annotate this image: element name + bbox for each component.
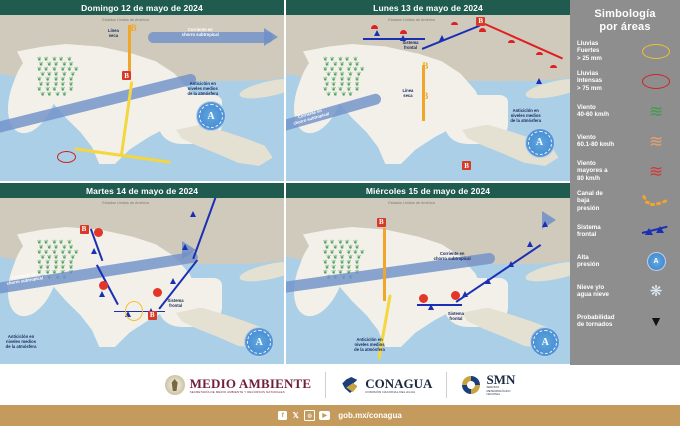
front-label: Sistema frontal xyxy=(402,40,418,50)
social-bar: f 𝕏 ◎ ▶ gob.mx/conagua xyxy=(0,405,680,426)
landmass-florida xyxy=(239,218,270,261)
panel-title-lunes: Lunes 13 de mayo de 2024 xyxy=(286,0,570,15)
panel-title-miercoles: Miércoles 15 de mayo de 2024 xyxy=(286,183,570,198)
forecast-panel-lunes[interactable]: Lunes 13 de mayo de 2024 ❦ ❦ ❦ ❦ ❦ ❦ ❦ ❦… xyxy=(286,0,570,181)
anticyclone-a-symbol: A xyxy=(207,111,214,122)
legend-label: Canal de baja presión xyxy=(577,190,633,212)
mexican-eagle-seal-icon xyxy=(165,375,185,395)
logo-text-block: MEDIO AMBIENTE SECRETARÍA DE MEDIO AMBIE… xyxy=(190,377,312,394)
panel-title-domingo: Domingo 12 de mayo de 2024 xyxy=(0,0,284,15)
legend-item-viento-60-80[interactable]: Viento 60.1-80 km/h ≋ xyxy=(570,126,680,156)
map-lunes: ❦ ❦ ❦ ❦ ❦ ❦ ❦ ❦ ❦ ❦ ❦ ❦ ❦ ❦ ❦ ❦ ❦ ❦ ❦ ❦ … xyxy=(286,15,570,181)
cold-front-triangle-icon xyxy=(542,221,548,227)
legend-icon-wrap: ≋ xyxy=(639,158,673,184)
low-pressure-marker: B xyxy=(476,17,485,26)
legend-title-line2: por áreas xyxy=(599,21,650,33)
smn-spiral-icon xyxy=(461,375,481,395)
legend-icon-wrap: ≋ xyxy=(639,128,673,154)
dry-line-label: Línea seca xyxy=(108,28,119,38)
legend-icon-wrap: ❋ xyxy=(639,278,673,304)
legend-item-lluvias-fuertes[interactable]: Lluvias Fuertes > 25 mm xyxy=(570,36,680,66)
intense-rain-dot xyxy=(94,228,103,237)
logo-conagua-name: CONAGUA xyxy=(365,377,432,390)
legend-icon-wrap xyxy=(639,188,673,214)
legend-icon-wrap xyxy=(639,218,673,244)
logo-text-block: CONAGUA COMISIÓN NACIONAL DEL AGUA xyxy=(365,377,432,394)
legend-label: Lluvias Intensas > 75 mm xyxy=(577,70,633,92)
map-domingo: ❦ ❦ ❦ ❦ ❦ ❦ ❦ ❦ ❦ ❦ ❦ ❦ ❦ ❦ ❦ ❦ ❦ ❦ ❦ ❦ … xyxy=(0,15,284,181)
warm-front-semicircle-icon xyxy=(451,22,458,26)
low-pressure-trough-icon xyxy=(642,195,670,207)
front-line-west xyxy=(417,304,462,306)
footer: MEDIO AMBIENTE SECRETARÍA DE MEDIO AMBIE… xyxy=(0,365,680,426)
instagram-icon[interactable]: ◎ xyxy=(304,410,315,421)
legend-title: Simbología por áreas xyxy=(570,0,680,36)
cold-front-triangle-icon xyxy=(99,291,105,297)
warm-front-semicircle-icon xyxy=(400,30,407,34)
low-pressure-marker-east: B xyxy=(148,311,157,320)
dry-line-b-symbol-2: B xyxy=(422,91,428,101)
legend-icon-wrap: A xyxy=(639,248,673,274)
warm-front-semicircle-icon xyxy=(508,40,515,44)
geo-label-usa: Estados Unidos de América xyxy=(388,201,435,205)
cold-front-triangle-icon xyxy=(527,241,533,247)
legend-title-line1: Simbología xyxy=(594,8,655,20)
front-label: Sistema frontal xyxy=(168,298,184,308)
legend-label: Lluvias Fuertes > 25 mm xyxy=(577,40,633,62)
facebook-icon[interactable]: f xyxy=(278,411,287,420)
logo-smn-sub: SERVICIO METEOROLÓGICO NACIONAL xyxy=(486,386,515,397)
legend-icon-wrap: ▼ xyxy=(639,308,673,334)
cold-front-triangle-icon xyxy=(462,291,468,297)
warm-front-semicircle-icon xyxy=(479,28,486,32)
red-ellipse-icon xyxy=(642,74,670,89)
footer-logos: MEDIO AMBIENTE SECRETARÍA DE MEDIO AMBIE… xyxy=(0,365,680,405)
legend-icon-wrap xyxy=(639,68,673,94)
geo-label-usa: Estados Unidos de América xyxy=(102,201,149,205)
legend-item-canal-baja-presion[interactable]: Canal de baja presión xyxy=(570,186,680,216)
logo-medio-ambiente: MEDIO AMBIENTE SECRETARÍA DE MEDIO AMBIE… xyxy=(165,375,312,395)
logo-medio-ambiente-name: MEDIO AMBIENTE xyxy=(190,377,312,390)
wind-green-icon: ≋ xyxy=(649,103,663,120)
forecast-panel-domingo[interactable]: Domingo 12 de mayo de 2024 ❦ ❦ ❦ ❦ ❦ ❦ ❦… xyxy=(0,0,284,181)
anticyclone-a-symbol: A xyxy=(256,337,263,348)
cold-front-triangle-icon xyxy=(182,244,188,250)
geo-label-usa: Estados Unidos de América xyxy=(388,18,435,22)
legend-label: Nieve y/o agua nieve xyxy=(577,284,633,299)
legend-item-lluvias-intensas[interactable]: Lluvias Intensas > 75 mm xyxy=(570,66,680,96)
landmass-florida xyxy=(525,35,556,78)
tornado-icon: ▼ xyxy=(649,313,663,329)
warm-front-semicircle-icon xyxy=(536,52,543,56)
legend-item-sistema-frontal[interactable]: Sistema frontal xyxy=(570,216,680,246)
anticyclone-label: Anticiclón en niveles medios de la atmós… xyxy=(187,81,218,96)
logo-divider xyxy=(325,372,326,398)
map-miercoles: ❦ ❦ ❦ ❦ ❦ ❦ ❦ ❦ ❦ ❦ ❦ ❦ ❦ ❦ ❦ ❦ ❦ ❦ ❦ ❦ … xyxy=(286,198,570,364)
legend-label: Sistema frontal xyxy=(577,224,633,239)
panel-title-martes: Martes 14 de mayo de 2024 xyxy=(0,183,284,198)
jet-stream-label: Corriente en chorro subtropical xyxy=(434,251,471,261)
wind-orange-icon: ≋ xyxy=(649,133,663,150)
cold-front-triangle-icon xyxy=(508,261,514,267)
warm-front-semicircle-icon xyxy=(550,65,557,69)
low-pressure-marker: B xyxy=(122,71,131,80)
dry-line-label: Línea seca xyxy=(402,88,413,98)
dry-line-b-symbol: B xyxy=(422,61,428,71)
cold-front-triangle-icon xyxy=(536,78,542,84)
legend-label: Probabilidad de tornados xyxy=(577,314,633,329)
anticyclone-a-symbol: A xyxy=(542,337,549,348)
wind-red-icon: ≋ xyxy=(649,163,663,180)
high-pressure-icon: A xyxy=(647,252,666,271)
cold-front-triangle-icon xyxy=(439,35,445,41)
legend-label: Viento 60.1-80 km/h xyxy=(577,134,633,149)
youtube-icon[interactable]: ▶ xyxy=(319,411,330,420)
forecast-panel-miercoles[interactable]: Miércoles 15 de mayo de 2024 ❦ ❦ ❦ ❦ ❦ ❦… xyxy=(286,183,570,364)
logo-smn-name: SMN xyxy=(486,373,515,386)
legend-icon-wrap xyxy=(639,38,673,64)
anticyclone-label: Anticiclón en niveles medios de la atmós… xyxy=(6,334,37,349)
map-martes: ❦ ❦ ❦ ❦ ❦ ❦ ❦ ❦ ❦ ❦ ❦ ❦ ❦ ❦ ❦ ❦ ❦ ❦ ❦ ❦ … xyxy=(0,198,284,364)
legend-item-viento-mayores-80[interactable]: Viento mayores a 80 km/h ≋ xyxy=(570,156,680,186)
cold-front-triangle-icon xyxy=(428,304,434,310)
anticyclone-label: Anticiclón en niveles medios de la atmós… xyxy=(354,337,385,352)
forecast-panel-martes[interactable]: Martes 14 de mayo de 2024 ❦ ❦ ❦ ❦ ❦ ❦ ❦ … xyxy=(0,183,284,364)
snow-icon: ❋ xyxy=(650,282,663,300)
logo-smn: SMN SERVICIO METEOROLÓGICO NACIONAL xyxy=(461,373,515,397)
jet-stream-arrow-icon xyxy=(264,28,278,46)
logo-divider xyxy=(446,372,447,398)
cold-front-triangle-icon xyxy=(485,278,491,284)
intense-rain-dot xyxy=(153,288,162,297)
intense-rain-ellipse xyxy=(57,151,76,163)
cold-front-triangle-icon xyxy=(374,30,380,36)
legend-item-nieve[interactable]: Nieve y/o agua nieve ❋ xyxy=(570,276,680,306)
conagua-wave-icon xyxy=(340,375,360,395)
jet-stream-label: Corriente en chorro subtropical xyxy=(182,27,219,37)
forecast-map-grid: Domingo 12 de mayo de 2024 ❦ ❦ ❦ ❦ ❦ ❦ ❦… xyxy=(0,0,570,365)
legend-icon-wrap: ≋ xyxy=(639,98,673,124)
frontal-system-icon xyxy=(642,226,670,237)
intense-rain-dot xyxy=(451,291,460,300)
dry-line-segment xyxy=(383,228,386,301)
low-pressure-marker: B xyxy=(377,218,386,227)
dry-line-b-symbol: B xyxy=(131,23,137,33)
front-label: Sistema frontal xyxy=(448,311,464,321)
low-pressure-marker: B xyxy=(80,225,89,234)
legend-label: Alta presión xyxy=(577,254,633,269)
high-pressure-anticyclone: A xyxy=(525,128,555,158)
anticyclone-label: Anticiclón en niveles medios de la atmós… xyxy=(510,108,541,123)
logo-text-block: SMN SERVICIO METEOROLÓGICO NACIONAL xyxy=(486,373,515,397)
legend-panel: Simbología por áreas Lluvias Fuertes > 2… xyxy=(570,0,680,365)
x-twitter-icon[interactable]: 𝕏 xyxy=(291,411,300,420)
geo-label-usa: Estados Unidos de América xyxy=(102,18,149,22)
cold-front-triangle-icon xyxy=(91,248,97,254)
website-url[interactable]: gob.mx/conagua xyxy=(338,411,402,420)
legend-label: Viento 40-60 km/h xyxy=(577,104,633,119)
heavy-rain-ellipse xyxy=(125,301,143,321)
low-pressure-marker-south: B xyxy=(462,161,471,170)
legend-item-alta-presion[interactable]: Alta presión A xyxy=(570,246,680,276)
yellow-ellipse-icon xyxy=(642,44,670,59)
cold-front-triangle-icon xyxy=(170,278,176,284)
legend-item-tornados[interactable]: Probabilidad de tornados ▼ xyxy=(570,306,680,336)
anticyclone-a-symbol: A xyxy=(536,137,543,148)
logo-conagua: CONAGUA COMISIÓN NACIONAL DEL AGUA xyxy=(340,375,432,395)
legend-item-viento-40-60[interactable]: Viento 40-60 km/h ≋ xyxy=(570,96,680,126)
weather-forecast-infographic: Domingo 12 de mayo de 2024 ❦ ❦ ❦ ❦ ❦ ❦ ❦… xyxy=(0,0,680,426)
warm-front-semicircle-icon xyxy=(371,25,378,29)
legend-label: Viento mayores a 80 km/h xyxy=(577,160,633,182)
cold-front-triangle-icon xyxy=(190,211,196,217)
